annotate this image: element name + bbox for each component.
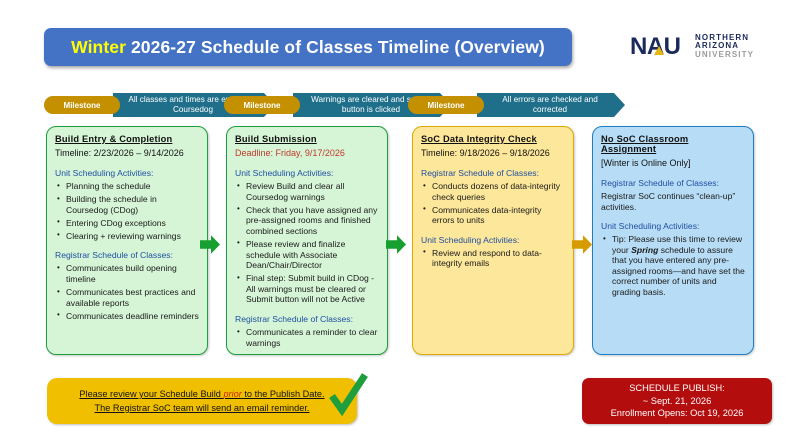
- publish-line-2: ~ Sept. 21, 2026: [643, 395, 712, 408]
- panel-1-section-2-list: Communicates build opening timeline Comm…: [55, 263, 199, 321]
- stage-panel-build-submission[interactable]: Build Submission Deadline: Friday, 9/17/…: [226, 126, 388, 355]
- review-note-line-2: The Registrar SoC team will send an emai…: [95, 401, 310, 415]
- page-title-rest: 2026-27 Schedule of Classes Timeline (Ov…: [126, 37, 545, 57]
- panel-1-section-1-list: Planning the schedule Building the sched…: [55, 181, 199, 241]
- stage-panel-data-integrity[interactable]: SoC Data Integrity Check Timeline: 9/18/…: [412, 126, 574, 355]
- panel-4-section-1-paragraph: Registrar SoC continues “clean-up” activ…: [601, 191, 745, 213]
- panel-3-section-1-heading: Registrar Schedule of Classes:: [421, 168, 565, 179]
- list-item: Check that you have assigned any pre-ass…: [235, 205, 379, 237]
- list-item: Communicates best practices and availabl…: [55, 287, 199, 308]
- list-item: Building the schedule in Coursedog (CDog…: [55, 194, 199, 215]
- stage-panel-build-entry[interactable]: Build Entry & Completion Timeline: 2/23/…: [46, 126, 208, 355]
- panel-1-subtitle: Timeline: 2/23/2026 – 9/14/2026: [55, 148, 199, 159]
- flow-arrow-right-icon-2: [386, 234, 406, 255]
- panel-1-title: Build Entry & Completion: [55, 134, 199, 144]
- nau-logo: NAU NORTHERN ARIZONA UNIVERSITY: [630, 33, 754, 59]
- review-note-line-1b: to the Publish Date.: [242, 389, 325, 399]
- panel-1-section-2-heading: Registrar Schedule of Classes:: [55, 250, 199, 261]
- milestone-3-text: All errors are checked and corrected: [491, 95, 609, 115]
- review-note-banner: Please review your Schedule Build prior …: [47, 378, 357, 424]
- review-note-prior-emphasis: prior: [223, 389, 241, 399]
- page-title: Winter 2026-27 Schedule of Classes Timel…: [71, 37, 545, 58]
- list-item: Communicates a reminder to clear warning…: [235, 327, 379, 348]
- list-item: Communicates data-integrity errors to un…: [421, 205, 565, 226]
- panel-3-title: SoC Data Integrity Check: [421, 134, 565, 144]
- panel-2-section-1-heading: Unit Scheduling Activities:: [235, 168, 379, 179]
- panel-3-section-2-list: Review and respond to data-integrity ema…: [421, 248, 565, 269]
- panel-2-title: Build Submission: [235, 134, 379, 144]
- panel-4-section-2-list: Tip: Please use this time to review your…: [601, 234, 745, 298]
- flow-arrow-right-icon-1: [200, 234, 220, 255]
- slide-title-bar: Winter 2026-27 Schedule of Classes Timel…: [44, 28, 572, 66]
- list-item: Planning the schedule: [55, 181, 199, 192]
- panel-3-subtitle: Timeline: 9/18/2026 – 9/18/2026: [421, 148, 565, 159]
- panel-4-subtitle: [Winter is Online Only]: [601, 158, 745, 169]
- milestone-3-banner: All errors are checked and corrected: [477, 93, 625, 117]
- page-title-highlight: Winter: [71, 37, 126, 57]
- list-item: Final step: Submit build in CDog - All w…: [235, 273, 379, 305]
- milestone-1-pill: Milestone: [44, 96, 120, 114]
- milestone-3-pill: Milestone: [408, 96, 484, 114]
- tip-emphasis: Spring: [631, 245, 658, 255]
- panel-3-section-1-list: Conducts dozens of data-integrity check …: [421, 181, 565, 226]
- flow-arrow-right-icon-3: [572, 234, 592, 255]
- panel-4-section-2-heading: Unit Scheduling Activities:: [601, 221, 745, 232]
- list-item: Clearing + reviewing warnings: [55, 231, 199, 242]
- list-item: Communicates build opening timeline: [55, 263, 199, 284]
- nau-logo-line3: UNIVERSITY: [695, 51, 754, 59]
- milestone-3: Milestone All errors are checked and cor…: [408, 93, 625, 117]
- list-item: Review and respond to data-integrity ema…: [421, 248, 565, 269]
- panel-4-title: No SoC Classroom Assignment: [601, 134, 745, 154]
- schedule-publish-box: SCHEDULE PUBLISH: ~ Sept. 21, 2026 Enrol…: [582, 378, 772, 424]
- panel-1-section-1-heading: Unit Scheduling Activities:: [55, 168, 199, 179]
- panel-2-section-2-list: Communicates a reminder to clear warning…: [235, 327, 379, 348]
- panel-2-section-1-list: Review Build and clear all Coursedog war…: [235, 181, 379, 305]
- list-item: Conducts dozens of data-integrity check …: [421, 181, 565, 202]
- list-item: Entering CDog exceptions: [55, 218, 199, 229]
- panel-4-section-1-heading: Registrar Schedule of Classes:: [601, 178, 745, 189]
- panel-2-subtitle: Deadline: Friday, 9/17/2026: [235, 148, 379, 159]
- slide-canvas: Winter 2026-27 Schedule of Classes Timel…: [0, 0, 792, 446]
- list-item-tip: Tip: Please use this time to review your…: [601, 234, 745, 298]
- milestone-2-pill: Milestone: [224, 96, 300, 114]
- stage-panel-no-classroom-assignment[interactable]: No SoC Classroom Assignment [Winter is O…: [592, 126, 754, 355]
- nau-logo-mark: NAU: [630, 34, 688, 59]
- review-note-line-1a: Please review your Schedule Build: [79, 389, 223, 399]
- panel-2-section-2-heading: Registrar Schedule of Classes:: [235, 314, 379, 325]
- publish-line-1: SCHEDULE PUBLISH:: [629, 382, 725, 395]
- panel-3-section-2-heading: Unit Scheduling Activities:: [421, 235, 565, 246]
- nau-logo-text: NORTHERN ARIZONA UNIVERSITY: [695, 33, 754, 59]
- check-mark-icon: [328, 372, 368, 416]
- publish-line-3: Enrollment Opens: Oct 19, 2026: [611, 407, 744, 420]
- nau-gold-triangle-icon: [654, 46, 664, 55]
- list-item: Review Build and clear all Coursedog war…: [235, 181, 379, 202]
- list-item: Communicates deadline reminders: [55, 311, 199, 322]
- review-note-line-1: Please review your Schedule Build prior …: [79, 387, 324, 401]
- list-item: Please review and finalize schedule with…: [235, 239, 379, 271]
